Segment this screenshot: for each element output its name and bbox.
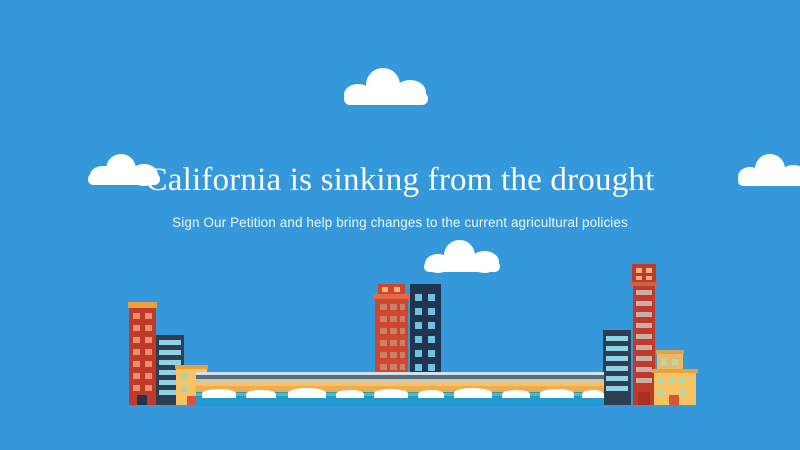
window	[415, 322, 422, 329]
building-right-yellow-wide	[654, 372, 696, 405]
window-band	[606, 356, 628, 361]
entrance-door	[187, 396, 196, 405]
window	[415, 350, 422, 357]
wave-crest	[336, 390, 364, 398]
window	[428, 322, 435, 329]
wave-crest	[502, 390, 530, 398]
window-band	[636, 334, 652, 339]
window	[133, 325, 140, 331]
page-subtitle: Sign Our Petition and help bring changes…	[0, 214, 800, 232]
window-band	[606, 346, 628, 351]
cloud-center	[424, 238, 500, 274]
window-band	[606, 386, 628, 391]
window	[145, 361, 152, 367]
window-band	[636, 312, 652, 317]
window	[133, 349, 140, 355]
window	[428, 294, 435, 301]
rooftop-window	[636, 268, 642, 273]
window	[428, 308, 435, 315]
window	[680, 378, 686, 384]
window	[400, 316, 405, 322]
window-band	[636, 345, 652, 350]
wave-crest	[418, 390, 444, 398]
window	[181, 374, 187, 380]
window	[400, 304, 405, 310]
window	[380, 304, 387, 310]
window	[390, 328, 397, 334]
window	[145, 337, 152, 343]
window	[661, 359, 667, 365]
wave-crest	[288, 388, 326, 398]
window	[428, 350, 435, 357]
window	[380, 316, 387, 322]
window	[415, 308, 422, 315]
window	[390, 352, 397, 358]
sand-highlight	[196, 381, 604, 386]
entrance-door	[638, 392, 650, 405]
bridge-deck	[196, 379, 604, 381]
cloud-lobe	[470, 251, 499, 273]
window	[680, 389, 686, 395]
window	[400, 328, 405, 334]
entrance-door	[137, 395, 147, 405]
wave-crest	[540, 389, 574, 398]
window-band	[636, 356, 652, 361]
window	[133, 361, 140, 367]
wave-crest	[374, 389, 408, 398]
wave-crest	[202, 389, 236, 398]
window	[380, 328, 387, 334]
headline-block: California is sinking from the drought S…	[0, 160, 800, 232]
window	[390, 304, 397, 310]
window-band	[636, 323, 652, 328]
window	[145, 349, 152, 355]
roof-edge	[652, 369, 698, 373]
window	[672, 359, 678, 365]
window-band	[636, 378, 652, 383]
window	[145, 373, 152, 379]
roof-cap	[128, 302, 157, 308]
rooftop-window	[382, 287, 388, 292]
window	[669, 378, 675, 384]
wave-crest	[582, 390, 604, 398]
rooftop-window	[646, 276, 652, 280]
window	[415, 336, 422, 343]
window	[428, 364, 435, 371]
entrance-door	[669, 395, 679, 405]
window	[658, 378, 664, 384]
roof-edge	[656, 350, 684, 354]
window-band	[159, 340, 181, 345]
window	[658, 389, 664, 395]
window	[390, 316, 397, 322]
window	[380, 340, 387, 346]
building-left-red-tower	[129, 307, 156, 405]
page-title: California is sinking from the drought	[0, 160, 800, 200]
window-band	[636, 367, 652, 372]
window	[145, 313, 152, 319]
rooftop-window	[646, 268, 652, 273]
window	[133, 337, 140, 343]
window	[415, 294, 422, 301]
window	[133, 313, 140, 319]
hero-banner: California is sinking from the drought S…	[0, 0, 800, 450]
window	[415, 364, 422, 371]
rooftop-window	[394, 287, 400, 292]
rooftop-unit	[632, 264, 656, 283]
window	[133, 385, 140, 391]
building-right-navy	[603, 330, 631, 405]
window	[380, 352, 387, 358]
window	[145, 385, 152, 391]
window	[145, 325, 152, 331]
shoreline-bridge	[196, 372, 604, 406]
rooftop-window	[636, 276, 642, 280]
window	[133, 373, 140, 379]
window-band	[606, 336, 628, 341]
window	[181, 386, 187, 392]
window	[400, 352, 405, 358]
wave-crest	[246, 390, 276, 398]
wave-crest	[454, 388, 492, 398]
window	[390, 364, 397, 370]
window-band	[159, 350, 181, 355]
window-band	[606, 366, 628, 371]
roof-edge	[175, 365, 208, 369]
roof-ledge	[630, 282, 658, 286]
window-band	[636, 290, 652, 295]
window	[428, 336, 435, 343]
window-band	[636, 301, 652, 306]
window	[380, 364, 387, 370]
window	[400, 364, 405, 370]
window	[400, 340, 405, 346]
roof-ledge	[373, 294, 410, 299]
window	[390, 340, 397, 346]
building-right-red-tower	[633, 282, 655, 405]
window-band	[606, 376, 628, 381]
